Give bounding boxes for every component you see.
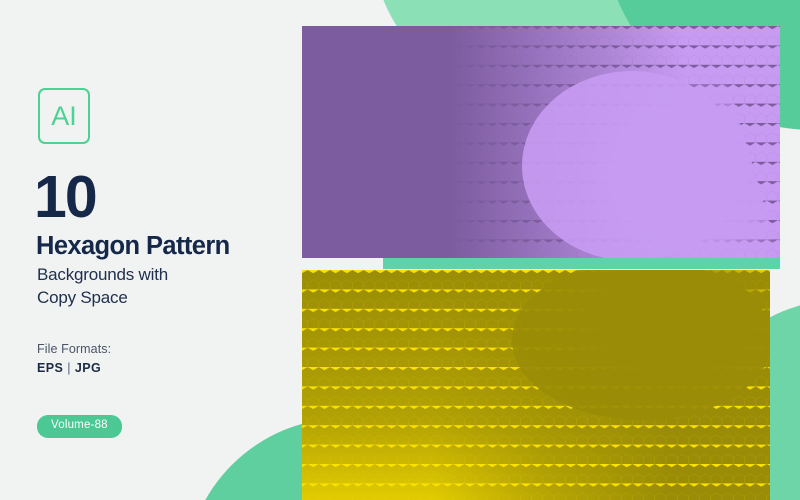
file-formats-value: EPS|JPG (37, 361, 101, 375)
ai-format-badge: AI (38, 88, 90, 144)
file-format-eps: EPS (37, 361, 63, 375)
yellow-hexagon-preview (302, 270, 770, 500)
page-subtitle: Backgrounds with Copy Space (37, 264, 168, 309)
page-title: Hexagon Pattern (36, 234, 230, 260)
page-subtitle-line-2: Copy Space (37, 287, 168, 310)
purple-hexagon-preview (302, 26, 780, 258)
page-subtitle-line-1: Backgrounds with (37, 264, 168, 287)
yellow-halftone-svg (302, 270, 770, 500)
preview-card: AI 10 Hexagon Pattern Backgrounds with C… (0, 0, 800, 500)
volume-badge: Volume-88 (37, 415, 122, 438)
purple-halftone-svg (302, 26, 780, 258)
file-format-jpg: JPG (75, 361, 101, 375)
panel-divider-bar (383, 258, 780, 269)
file-format-separator: | (63, 361, 75, 375)
item-count: 10 (34, 168, 96, 227)
file-formats-label: File Formats: (37, 342, 111, 356)
ai-format-badge-label: AI (51, 103, 77, 130)
